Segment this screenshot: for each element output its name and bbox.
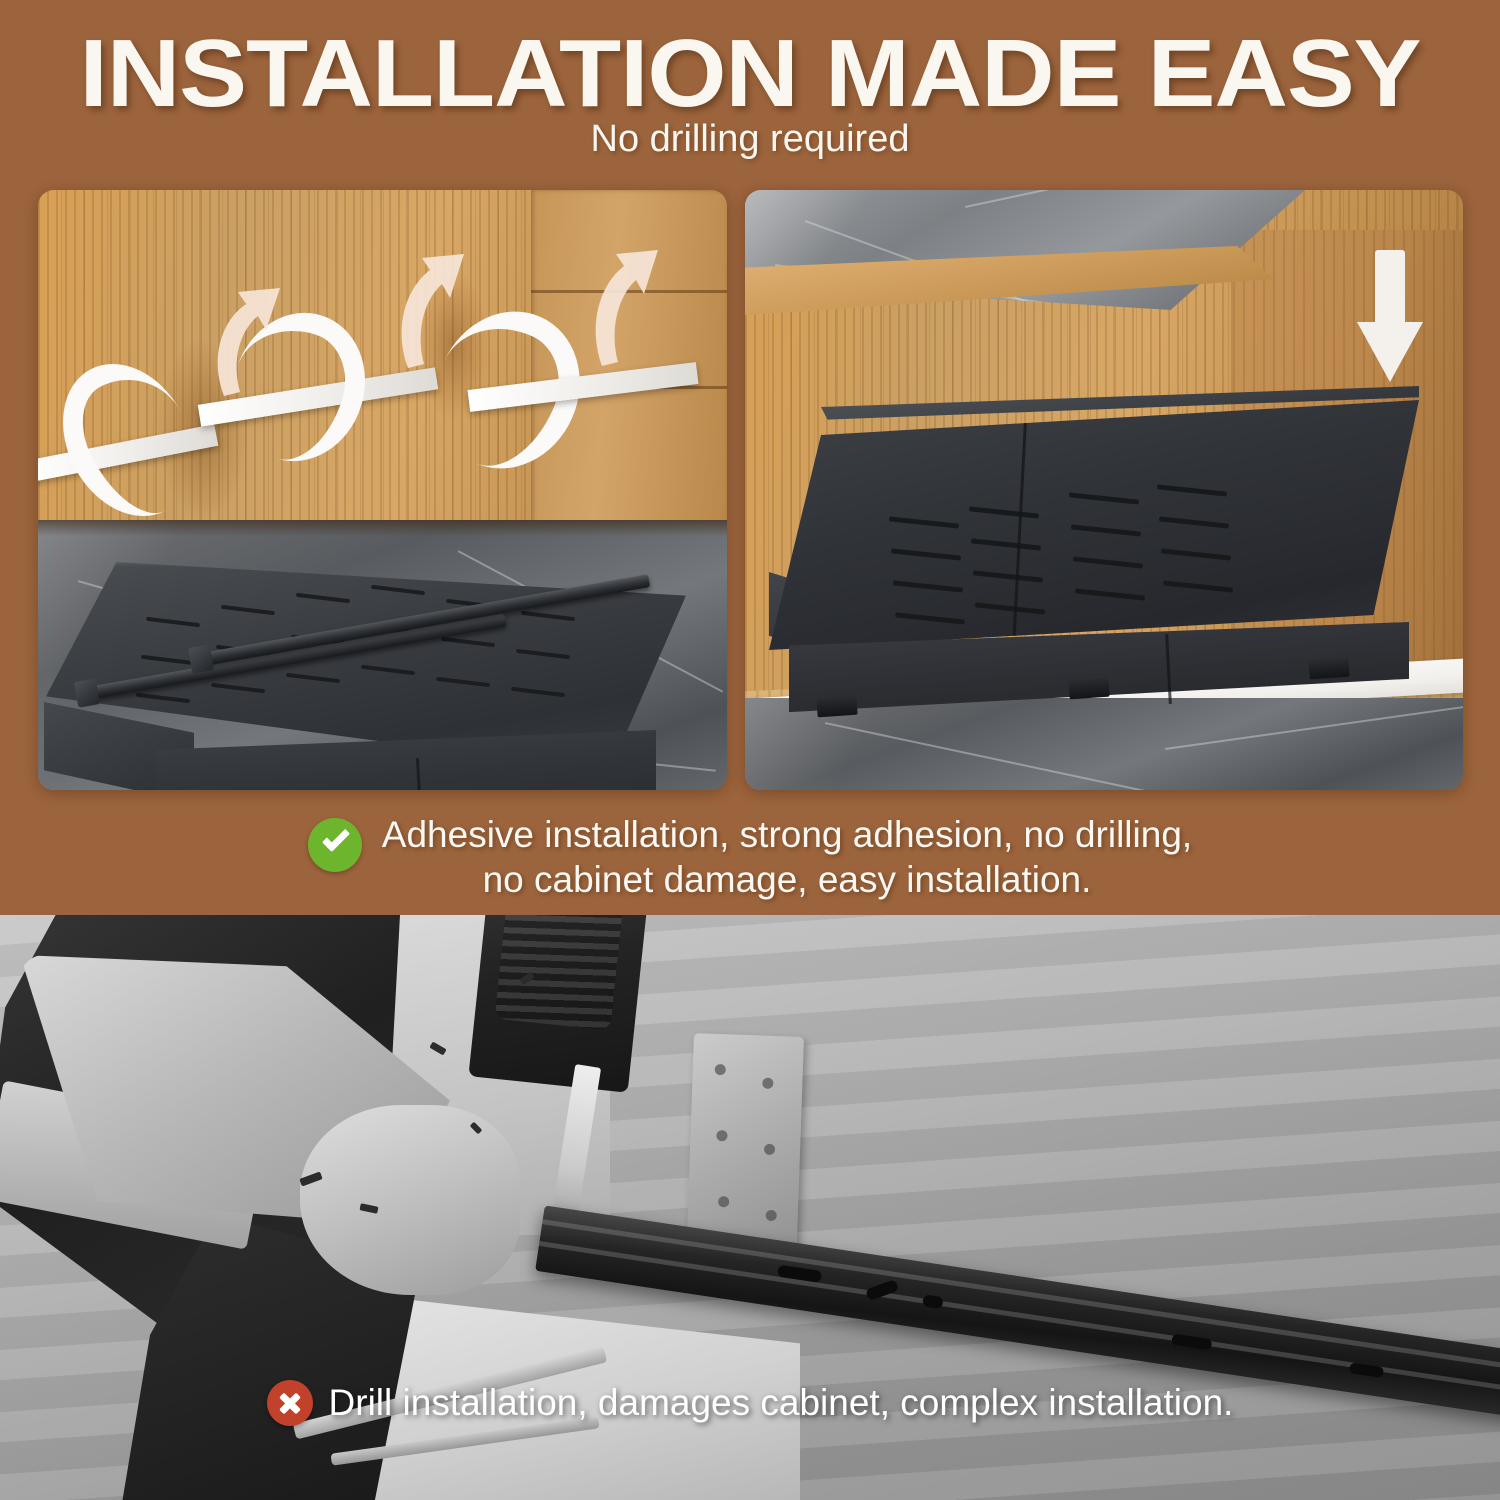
- page-subtitle: No drilling required: [0, 118, 1500, 160]
- down-arrow-icon: [1357, 250, 1423, 382]
- rail-end-cap: [188, 644, 214, 673]
- up-arrow-icon: [390, 252, 468, 375]
- positive-caption-line-2: no cabinet damage, easy installation.: [382, 857, 1192, 902]
- tray-foot: [816, 695, 857, 718]
- pullout-tray-right: [769, 386, 1419, 716]
- tray-placement-photo: [745, 190, 1463, 790]
- pullout-tray-left: [46, 562, 686, 790]
- floor-shadow: [38, 520, 727, 536]
- up-arrow-icon: [206, 286, 284, 403]
- tray-foot: [1308, 657, 1349, 680]
- x-circle-icon: [267, 1380, 313, 1426]
- rail-end-cap: [74, 678, 100, 707]
- person-hand: [300, 1105, 520, 1295]
- positive-caption-line-1: Adhesive installation, strong adhesion, …: [382, 812, 1192, 857]
- positive-caption-text: Adhesive installation, strong adhesion, …: [382, 812, 1192, 902]
- power-drill: [468, 915, 651, 1093]
- tray-inner-basin: [769, 400, 1419, 650]
- page-title: INSTALLATION MADE EASY: [0, 26, 1500, 122]
- check-circle-icon: [308, 818, 362, 872]
- top-brown-section: INSTALLATION MADE EASY No drilling requi…: [0, 0, 1500, 915]
- negative-caption-text: Drill installation, damages cabinet, com…: [329, 1381, 1234, 1425]
- adhesive-strip-application-photo: [38, 190, 727, 790]
- positive-caption: Adhesive installation, strong adhesion, …: [0, 812, 1500, 902]
- negative-caption: Drill installation, damages cabinet, com…: [0, 1380, 1500, 1426]
- tray-foot: [1068, 677, 1109, 700]
- up-arrow-icon: [584, 248, 662, 373]
